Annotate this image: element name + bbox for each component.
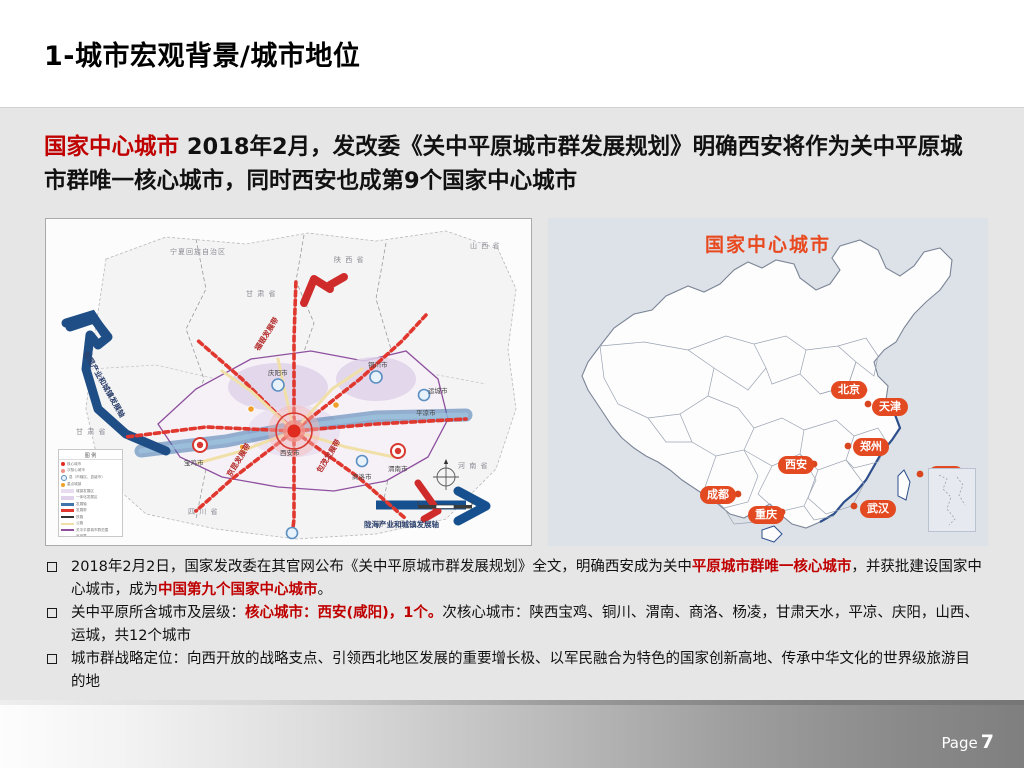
bullet-seg: 城市群战略定位：向西开放的战略支点、引领西北地区发展的重要增长极、以军民融合为特… — [71, 651, 970, 690]
china-map-graphic — [548, 218, 988, 546]
legend-swatch-core — [61, 462, 65, 466]
map-legend-title: 图 例 — [59, 450, 122, 460]
footer-divider — [0, 700, 1024, 705]
guanzhong-plain-plan-map: 宁夏回族自治区 陕 西 省 山 西 省 甘 肃 省 甘 肃 省 河 南 省 四 … — [45, 218, 532, 546]
legend-item: 次核心城市 — [61, 468, 120, 473]
city-node-yuncheng: 运城市 — [428, 385, 448, 395]
city-node-baoji: 宝鸡市 — [184, 457, 204, 467]
list-item: 城市群战略定位：向西开放的战略支点、引领西北地区发展的重要增长极、以军民融合为特… — [44, 648, 984, 693]
legend-swatch-cluster — [61, 529, 74, 531]
legend-item: 公路 — [61, 521, 120, 526]
city-pill-zhengzhou: 郑州 — [853, 438, 889, 456]
legend-item: 省级界 — [61, 534, 120, 537]
subtitle-lead: 国家中心城市 — [44, 134, 179, 160]
slide-header: 1-城市宏观背景/城市地位 — [0, 0, 1024, 108]
map-legend: 图 例 核心城市 次核心城市 县（市辖区、县级市） 重点城镇 城镇发展区 一体化… — [58, 449, 123, 537]
legend-swatch-road — [61, 523, 74, 525]
slide-footer: Page7 — [0, 700, 1024, 768]
legend-item: 关中平原城市群范围 — [61, 528, 120, 533]
page-indicator: Page7 — [941, 731, 994, 753]
legend-swatch-subcore — [61, 469, 65, 473]
page-title: 1-城市宏观背景/城市地位 — [44, 34, 360, 73]
legend-item: 核心城市 — [61, 462, 120, 467]
city-node-xian: 西安市 — [280, 447, 300, 457]
bullet-text-3: 城市群战略定位：向西开放的战略支点、引领西北地区发展的重要增长极、以军民融合为特… — [71, 648, 984, 693]
slide-body: 国家中心城市 2018年2月，发改委《关中平原城市群发展规划》明确西安将作为关中… — [0, 108, 1024, 700]
province-label-ningxia: 宁夏回族自治区 — [170, 247, 226, 257]
bullet-text-2: 关中平原所含城市及层级：核心城市：西安(咸阳)，1个。次核心城市：陕西宝鸡、铜川… — [71, 602, 984, 647]
province-label-shanxi: 山 西 省 — [470, 241, 500, 251]
legend-item: 发展轴 — [61, 502, 120, 507]
bullet-square-icon — [47, 654, 57, 664]
bullet-list: 2018年2月2日，国家发改委在其官网公布《关中平原城市群发展规划》全文，明确西… — [44, 556, 984, 694]
legend-swatch-axis — [61, 503, 74, 506]
bullet-seg: 2018年2月2日，国家发改委在其官网公布《关中平原城市群发展规划》全文，明确西… — [71, 559, 692, 575]
legend-swatch-integrated — [61, 496, 74, 500]
legend-item: 铁路 — [61, 515, 120, 520]
province-label-henan: 河 南 省 — [458, 461, 488, 471]
province-label-sichuan: 四 川 省 — [188, 507, 218, 517]
list-item: 2018年2月2日，国家发改委在其官网公布《关中平原城市群发展规划》全文，明确西… — [44, 556, 984, 601]
legend-swatch-rail — [61, 516, 74, 518]
city-pill-xian: 西安 — [778, 456, 814, 474]
legend-swatch-province — [61, 536, 74, 537]
city-pill-beijing: 北京 — [831, 381, 867, 399]
city-node-tongchuan: 铜川市 — [368, 359, 388, 369]
province-label-gansu-left: 甘 肃 省 — [76, 427, 106, 437]
legend-item: 发展带 — [61, 508, 120, 513]
subtitle-rest: 2018年2月，发改委《关中平原城市群发展规划》明确西安将作为关中平原城市群唯一… — [44, 134, 963, 194]
bullet-seg: 关中平原所含城市及层级： — [71, 605, 245, 621]
city-pill-chengdu: 成都 — [700, 486, 736, 504]
province-label-gansu-top: 甘 肃 省 — [246, 289, 276, 299]
city-pill-tianjin: 天津 — [872, 398, 908, 416]
legend-item: 重点城镇 — [61, 482, 120, 487]
map-left-canvas: 宁夏回族自治区 陕 西 省 山 西 省 甘 肃 省 甘 肃 省 河 南 省 四 … — [46, 219, 531, 545]
axis-label-longhai: 陇海产业和城镇发展轴 — [364, 519, 439, 530]
bullet-seg-highlight: 平原城市群唯一核心城市 — [692, 559, 852, 575]
page-label: Page — [941, 734, 977, 752]
legend-swatch-urbanzone — [61, 489, 74, 493]
city-node-weinan: 渭南市 — [388, 463, 408, 473]
legend-swatch-town — [61, 483, 65, 487]
bullet-seg: 。 — [318, 582, 333, 598]
bullet-seg-highlight: 核心城市：西安(咸阳)，1个。 — [245, 605, 442, 621]
city-node-qingyang: 庆阳市 — [268, 367, 288, 377]
bullet-text-1: 2018年2月2日，国家发改委在其官网公布《关中平原城市群发展规划》全文，明确西… — [71, 556, 984, 601]
city-pill-wuhan: 武汉 — [860, 500, 896, 518]
south-china-sea-inset — [928, 468, 976, 532]
legend-item: 一体化发展区 — [61, 495, 120, 500]
legend-item: 城镇发展区 — [61, 489, 120, 494]
inset-graphic — [929, 469, 973, 529]
legend-item: 县（市辖区、县级市） — [61, 475, 120, 481]
city-node-shangluo: 商洛市 — [352, 471, 372, 481]
legend-swatch-county — [61, 475, 67, 481]
bullet-square-icon — [47, 562, 57, 572]
china-national-central-cities-map: 国家中心城市 — [548, 218, 988, 546]
bullet-seg-highlight: 中国第九个国家中心城市 — [158, 582, 318, 598]
city-pill-chongqing: 重庆 — [748, 506, 784, 524]
subtitle: 国家中心城市 2018年2月，发改委《关中平原城市群发展规划》明确西安将作为关中… — [44, 130, 984, 198]
city-node-pingliang: 平凉市 — [416, 407, 436, 417]
page-number: 7 — [981, 731, 994, 753]
legend-swatch-belt — [61, 509, 74, 512]
list-item: 关中平原所含城市及层级：核心城市：西安(咸阳)，1个。次核心城市：陕西宝鸡、铜川… — [44, 602, 984, 647]
province-label-shaanxi-top: 陕 西 省 — [334, 255, 364, 265]
bullet-square-icon — [47, 608, 57, 618]
